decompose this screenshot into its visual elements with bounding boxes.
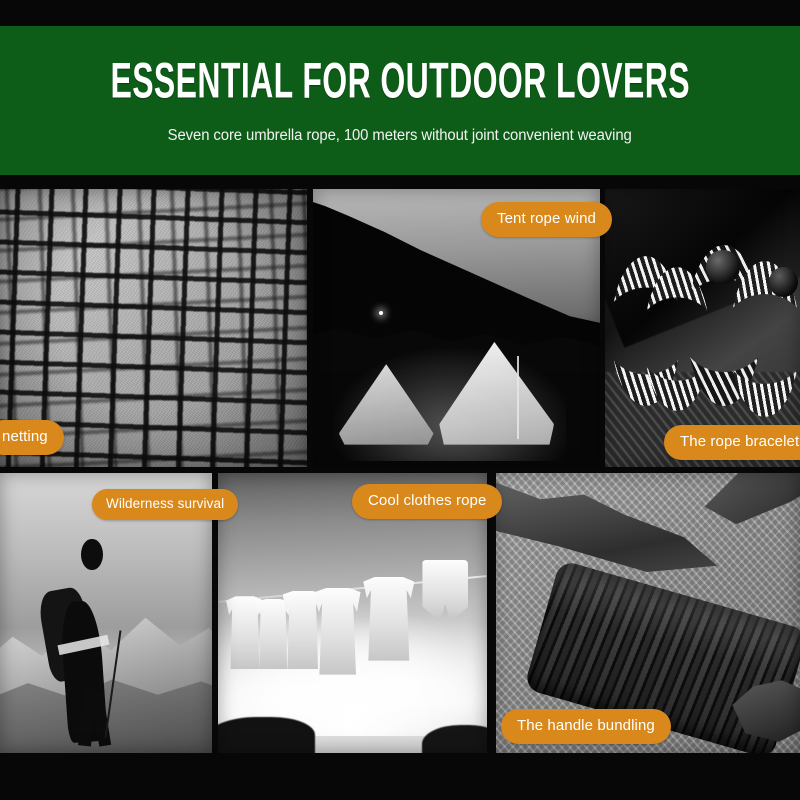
hiker-head xyxy=(81,539,102,570)
hiker-trekking-pole xyxy=(105,630,122,737)
header-banner: ESSENTIAL FOR OUTDOOR LOVERS Seven core … xyxy=(0,26,800,175)
garment xyxy=(256,599,291,669)
tent-pole xyxy=(517,356,519,439)
label-cool-clothes-rope: Cool clothes rope xyxy=(352,484,502,519)
garment xyxy=(363,577,414,661)
product-infographic: ESSENTIAL FOR OUTDOOR LOVERS Seven core … xyxy=(0,0,800,800)
label-wilderness-survival: Wilderness survival xyxy=(92,489,238,520)
label-rope-bracelet: The rope bracelet xyxy=(664,425,800,460)
label-handle-bundling: The handle bundling xyxy=(501,709,671,744)
page-subtitle: Seven core umbrella rope, 100 meters wit… xyxy=(168,127,632,145)
photo-gallery xyxy=(0,189,800,753)
page-title: ESSENTIAL FOR OUTDOOR LOVERS xyxy=(110,56,690,106)
bracelet-buckle-1 xyxy=(706,250,739,283)
label-netting: netting xyxy=(0,420,64,455)
hiker-silhouette xyxy=(38,535,136,742)
label-tent-rope-wind: Tent rope wind xyxy=(481,202,612,237)
tree-silhouette-left xyxy=(218,717,315,753)
garment xyxy=(315,588,361,675)
